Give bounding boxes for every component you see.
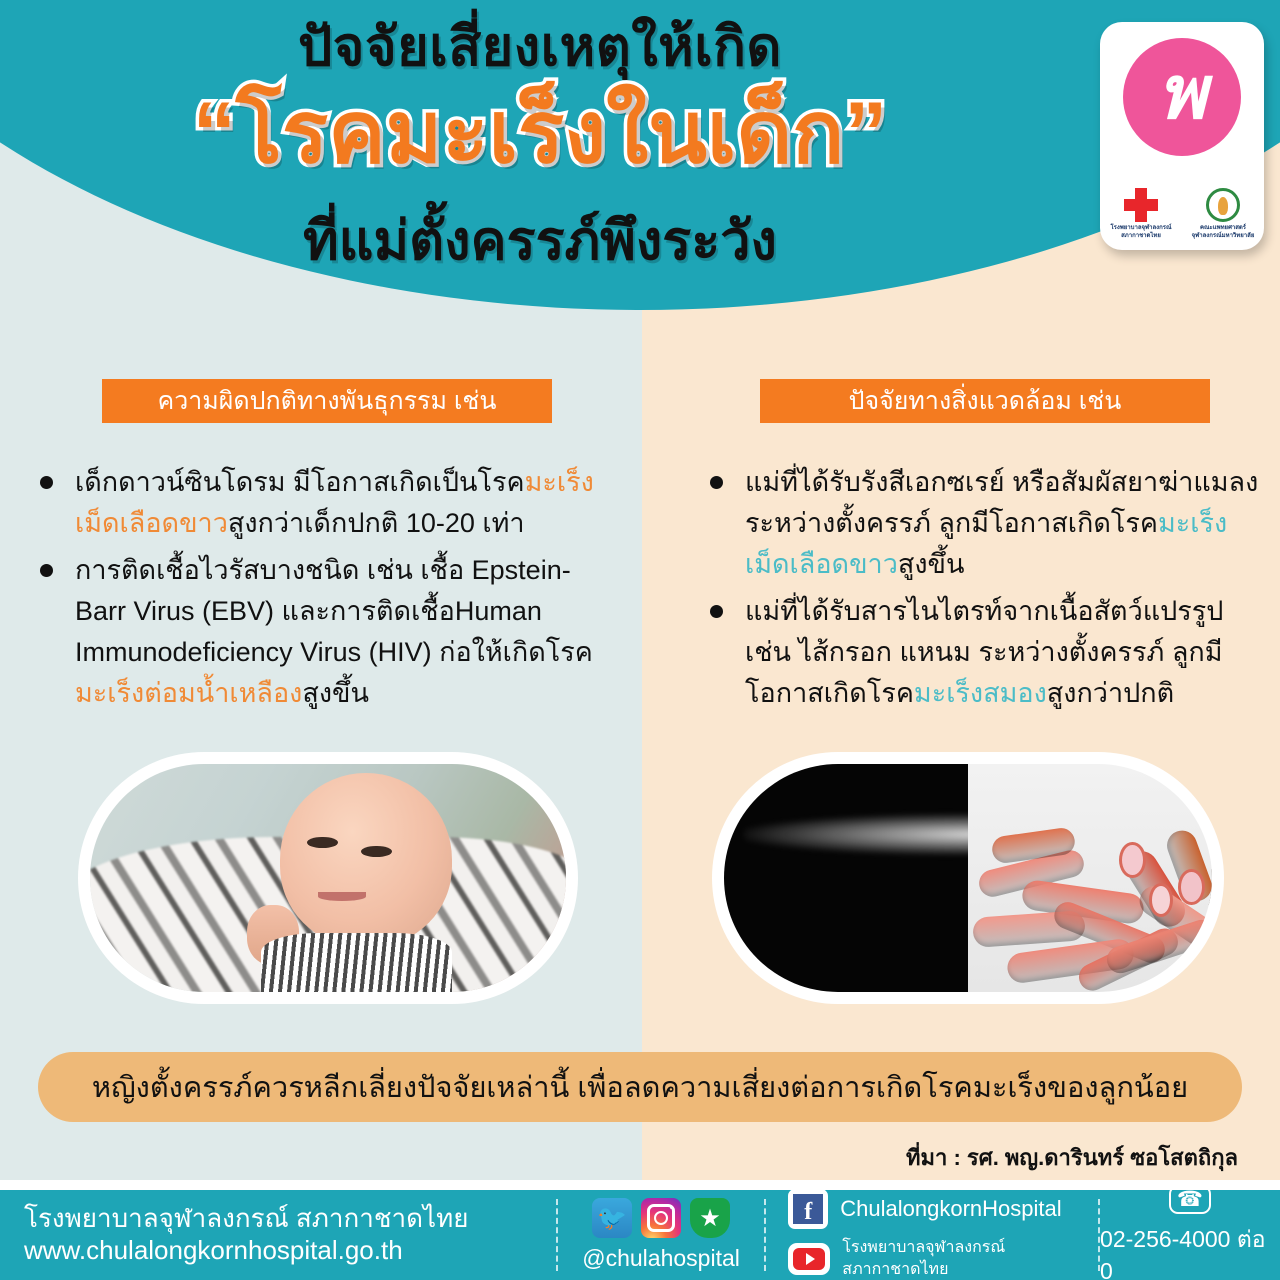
chula-seal-caption: คณะแพทยศาสตร์ จุฬาลงกรณ์มหาวิทยาลัย (1187, 225, 1259, 240)
phone-number: 02-256-4000 ต่อ 0 (1100, 1222, 1280, 1280)
text-run: สูงกว่าปกติ (1047, 678, 1174, 708)
right-column-heading: ปัจจัยทางสิ่งแวดล้อม เช่น (760, 379, 1210, 423)
line-icon[interactable]: ★ (690, 1198, 730, 1238)
pink-circle-logo-icon: พ (1123, 38, 1241, 156)
text-run: สูงกว่าเด็กปกติ 10-20 เท่า (228, 508, 525, 538)
footer-phone-section: ☎ 02-256-4000 ต่อ 0 (1100, 1190, 1280, 1280)
list-item-text: แม่ที่ได้รับสารไนไตรท์จากเนื้อสัตว์แปรรู… (745, 591, 1260, 714)
sausage-slice-shape (1178, 869, 1205, 905)
bullet-dot-icon (40, 564, 53, 577)
text-run: เด็กดาวน์ซินโดรม มีโอกาสเกิดเป็นโรค (75, 467, 525, 497)
left-column-heading: ความผิดปกติทางพันธุกรรม เช่น (102, 379, 552, 423)
photo-spray-sausage-image (724, 764, 1212, 992)
photo-card-spray-sausage (712, 752, 1224, 1004)
list-item-text: เด็กดาวน์ซินโดรม มีโอกาสเกิดเป็นโรคมะเร็… (75, 462, 620, 544)
summary-banner: หญิงตั้งครรภ์ควรหลีกเลี่ยงปัจจัยเหล่านี้… (38, 1052, 1242, 1122)
list-item: เด็กดาวน์ซินโดรม มีโอกาสเกิดเป็นโรคมะเร็… (30, 462, 620, 544)
list-item-text: แม่ที่ได้รับรังสีเอกซเรย์ หรือสัมผัสยาฆ่… (745, 462, 1260, 585)
title-line-1: ปัจจัยเสี่ยงเหตุให้เกิด (0, 18, 1080, 77)
twitter-icon[interactable]: 🐦 (592, 1198, 632, 1238)
youtube-label-line-1: โรงพยาบาลจุฬาลงกรณ์ (842, 1237, 1005, 1259)
photo-baby-image (90, 764, 566, 992)
poster-title: ปัจจัยเสี่ยงเหตุให้เกิด “โรคมะเร็งในเด็ก… (0, 0, 1080, 300)
chula-seal-logo-item: คณะแพทยศาสตร์ จุฬาลงกรณ์มหาวิทยาลัย (1187, 188, 1259, 240)
list-item: แม่ที่ได้รับรังสีเอกซเรย์ หรือสัมผัสยาฆ่… (700, 462, 1260, 585)
sausage-slice-shape (1119, 842, 1146, 878)
youtube-icon[interactable] (788, 1243, 830, 1275)
chula-seal-icon (1206, 188, 1240, 222)
source-credit: ที่มา : รศ. พญ.ดารินทร์ ซอโสตถิกุล (906, 1140, 1238, 1175)
photo-card-baby (78, 752, 578, 1004)
social-icon-row: 🐦 ★ (592, 1198, 730, 1238)
highlight-orange: มะเร็งต่อมน้ำเหลือง (75, 678, 302, 708)
youtube-label: โรงพยาบาลจุฬาลงกรณ์ สภากาชาดไทย (842, 1237, 1005, 1280)
highlight-teal: มะเร็งสมอง (914, 678, 1047, 708)
hospital-logo-card: พ โรงพยาบาลจุฬาลงกรณ์ สภากาชาดไทย คณะแพท… (1100, 22, 1264, 250)
list-item: การติดเชื้อไวรัสบางชนิด เช่น เชื้อ Epste… (30, 550, 620, 714)
facebook-icon[interactable]: f (788, 1189, 828, 1229)
red-cross-caption: โรงพยาบาลจุฬาลงกรณ์ สภากาชาดไทย (1105, 225, 1177, 240)
footer-facebook-youtube-section: f ChulalongkornHospital โรงพยาบาลจุฬาลงก… (766, 1190, 1098, 1280)
title-line-2-highlight: “โรคมะเร็งในเด็ก” (0, 86, 1080, 181)
footer-org-name: โรงพยาบาลจุฬาลงกรณ์ สภากาชาดไทย (24, 1203, 468, 1235)
header-teal-blob: ปัจจัยเสี่ยงเหตุให้เกิด “โรคมะเร็งในเด็ก… (0, 0, 1280, 310)
footer-social-section: 🐦 ★ @chulahospital (558, 1190, 764, 1280)
text-run: การติดเชื้อไวรัสบางชนิด เช่น เชื้อ Epste… (75, 555, 593, 667)
social-handle: @chulahospital (582, 1245, 740, 1272)
facebook-label: ChulalongkornHospital (840, 1196, 1061, 1222)
bullet-dot-icon (710, 476, 723, 489)
text-run: สูงขึ้น (302, 678, 369, 708)
instagram-icon[interactable] (641, 1198, 681, 1238)
list-item: แม่ที่ได้รับสารไนไตรท์จากเนื้อสัตว์แปรรู… (700, 591, 1260, 714)
left-column-bullets: เด็กดาวน์ซินโดรม มีโอกาสเกิดเป็นโรคมะเร็… (30, 462, 620, 720)
logo-monogram: พ (1123, 38, 1241, 156)
bullet-dot-icon (40, 476, 53, 489)
red-cross-icon (1124, 188, 1158, 222)
logo-sub-row: โรงพยาบาลจุฬาลงกรณ์ สภากาชาดไทย คณะแพทยศ… (1100, 188, 1264, 240)
red-cross-logo-item: โรงพยาบาลจุฬาลงกรณ์ สภากาชาดไทย (1105, 188, 1177, 240)
youtube-line[interactable]: โรงพยาบาลจุฬาลงกรณ์ สภากาชาดไทย (788, 1237, 1005, 1280)
title-line-3: ที่แม่ตั้งครรภ์พึงระวัง (0, 212, 1080, 271)
right-column-bullets: แม่ที่ได้รับรังสีเอกซเรย์ หรือสัมผัสยาฆ่… (700, 462, 1260, 720)
phone-icon[interactable]: ☎ (1169, 1185, 1211, 1214)
footer-website-link[interactable]: www.chulalongkornhospital.go.th (24, 1235, 403, 1267)
footer-bar: โรงพยาบาลจุฬาลงกรณ์ สภากาชาดไทย www.chul… (0, 1190, 1280, 1280)
infographic-poster: ปัจจัยเสี่ยงเหตุให้เกิด “โรคมะเร็งในเด็ก… (0, 0, 1280, 1280)
list-item-text: การติดเชื้อไวรัสบางชนิด เช่น เชื้อ Epste… (75, 550, 620, 714)
facebook-line[interactable]: f ChulalongkornHospital (788, 1189, 1061, 1229)
sausage-slice-shape (1149, 883, 1173, 917)
footer-org-section: โรงพยาบาลจุฬาลงกรณ์ สภากาชาดไทย www.chul… (0, 1190, 556, 1280)
bullet-dot-icon (710, 605, 723, 618)
youtube-label-line-2: สภากาชาดไทย (842, 1259, 1005, 1280)
text-run: สูงขึ้น (898, 549, 965, 579)
